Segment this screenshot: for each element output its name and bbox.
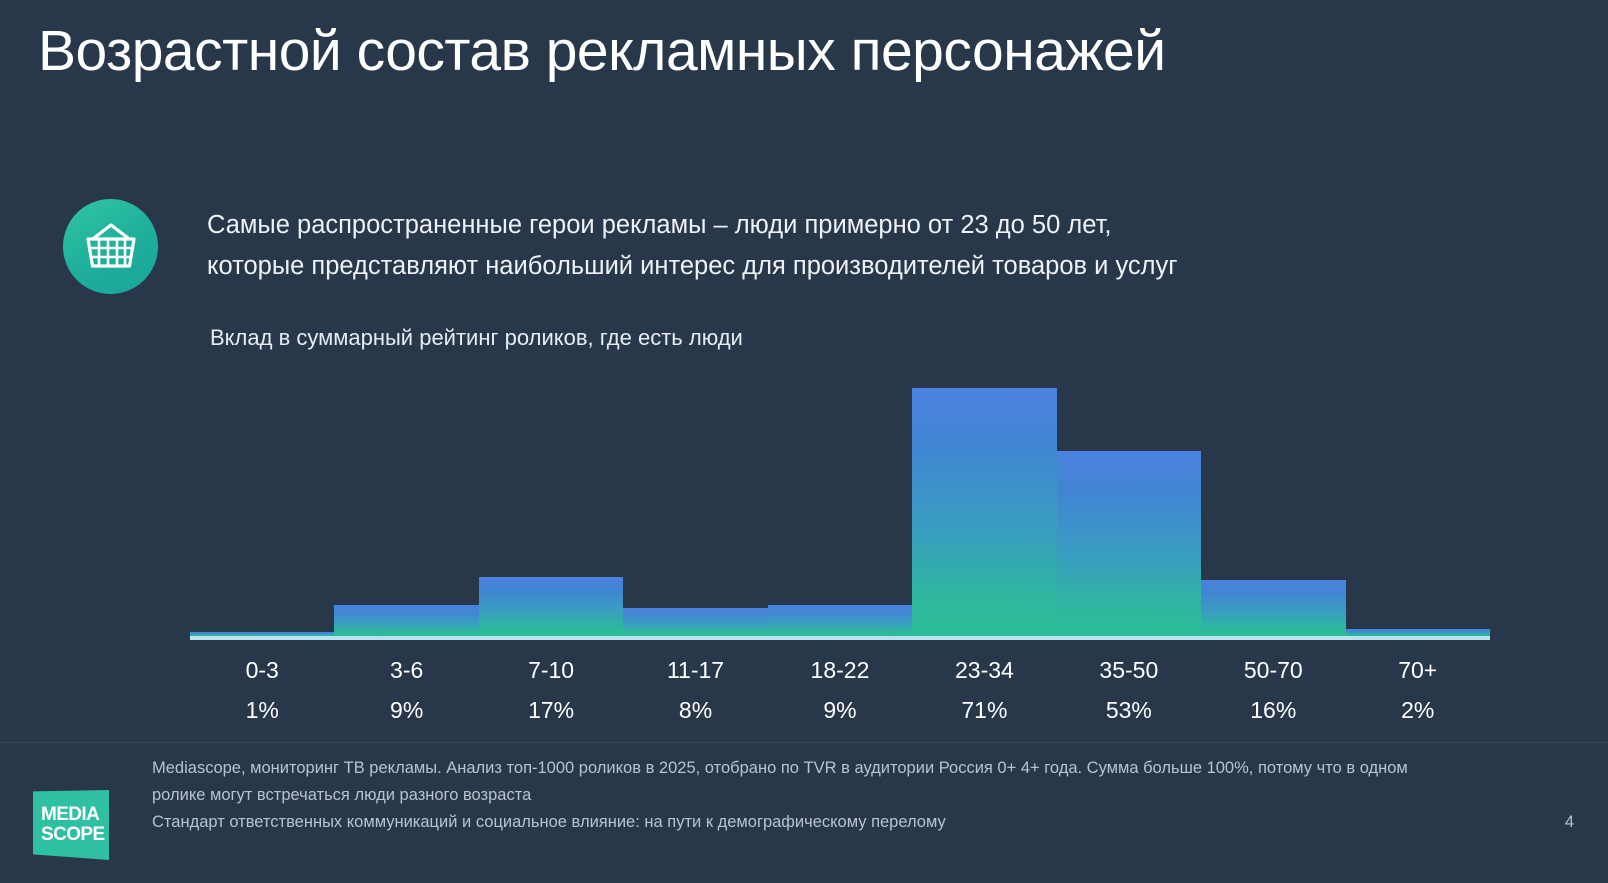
axis-cell-50-70: 50-7016% <box>1201 655 1345 725</box>
bar-chart <box>190 374 1490 644</box>
axis-cell-35-50: 35-5053% <box>1057 655 1201 725</box>
axis-cell-7-10: 7-1017% <box>479 655 623 725</box>
bar-70+ <box>1346 629 1490 636</box>
bar-35-50 <box>1057 451 1201 636</box>
axis-category-label: 50-70 <box>1201 655 1345 685</box>
axis-category-label: 23-34 <box>912 655 1056 685</box>
axis-category-label: 3-6 <box>334 655 478 685</box>
axis-category-label: 35-50 <box>1057 655 1201 685</box>
page-number: 4 <box>1565 813 1574 832</box>
x-axis-labels: 0-31%3-69%7-1017%11-178%18-229%23-3471%3… <box>190 655 1490 725</box>
axis-value-label: 16% <box>1201 695 1345 725</box>
bar-series <box>190 374 1490 636</box>
axis-value-label: 71% <box>912 695 1056 725</box>
footer-divider <box>0 742 1608 743</box>
axis-category-label: 70+ <box>1346 655 1490 685</box>
page-title: Возрастной состав рекламных персонажей <box>38 18 1166 84</box>
axis-category-label: 7-10 <box>479 655 623 685</box>
chart-subtitle: Вклад в суммарный рейтинг роликов, где е… <box>210 325 743 351</box>
callout-line-1: Самые распространенные герои рекламы – л… <box>207 205 1178 246</box>
callout-text: Самые распространенные герои рекламы – л… <box>207 199 1178 287</box>
axis-value-label: 17% <box>479 695 623 725</box>
axis-value-label: 1% <box>190 695 334 725</box>
mediascope-logo: MEDIA SCOPE <box>33 790 109 860</box>
bar-18-22 <box>768 605 912 636</box>
axis-category-label: 18-22 <box>768 655 912 685</box>
slide: Возрастной состав рекламных персонажей С… <box>0 0 1608 883</box>
bar-50-70 <box>1201 580 1345 636</box>
axis-cell-23-34: 23-3471% <box>912 655 1056 725</box>
axis-category-label: 0-3 <box>190 655 334 685</box>
callout-line-2: которые представляют наибольший интерес … <box>207 246 1178 287</box>
axis-value-label: 8% <box>623 695 767 725</box>
x-axis-line <box>190 636 1490 640</box>
callout-block: Самые распространенные герои рекламы – л… <box>63 199 1178 294</box>
axis-value-label: 2% <box>1346 695 1490 725</box>
axis-category-label: 11-17 <box>623 655 767 685</box>
logo-line-1: MEDIA <box>41 805 99 825</box>
bar-11-17 <box>623 608 767 636</box>
axis-value-label: 9% <box>768 695 912 725</box>
axis-value-label: 9% <box>334 695 478 725</box>
axis-cell-70+: 70+2% <box>1346 655 1490 725</box>
logo-line-2: SCOPE <box>41 825 105 845</box>
axis-value-label: 53% <box>1057 695 1201 725</box>
axis-cell-0-3: 0-31% <box>190 655 334 725</box>
axis-cell-18-22: 18-229% <box>768 655 912 725</box>
deck-name: Стандарт ответственных коммуникаций и со… <box>152 813 946 832</box>
bar-3-6 <box>334 605 478 636</box>
bar-7-10 <box>479 577 623 636</box>
source-note: Mediascope, мониторинг ТВ рекламы. Анали… <box>152 755 1432 809</box>
axis-cell-11-17: 11-178% <box>623 655 767 725</box>
axis-cell-3-6: 3-69% <box>334 655 478 725</box>
shopping-basket-icon <box>63 199 158 294</box>
bar-23-34 <box>912 388 1056 636</box>
